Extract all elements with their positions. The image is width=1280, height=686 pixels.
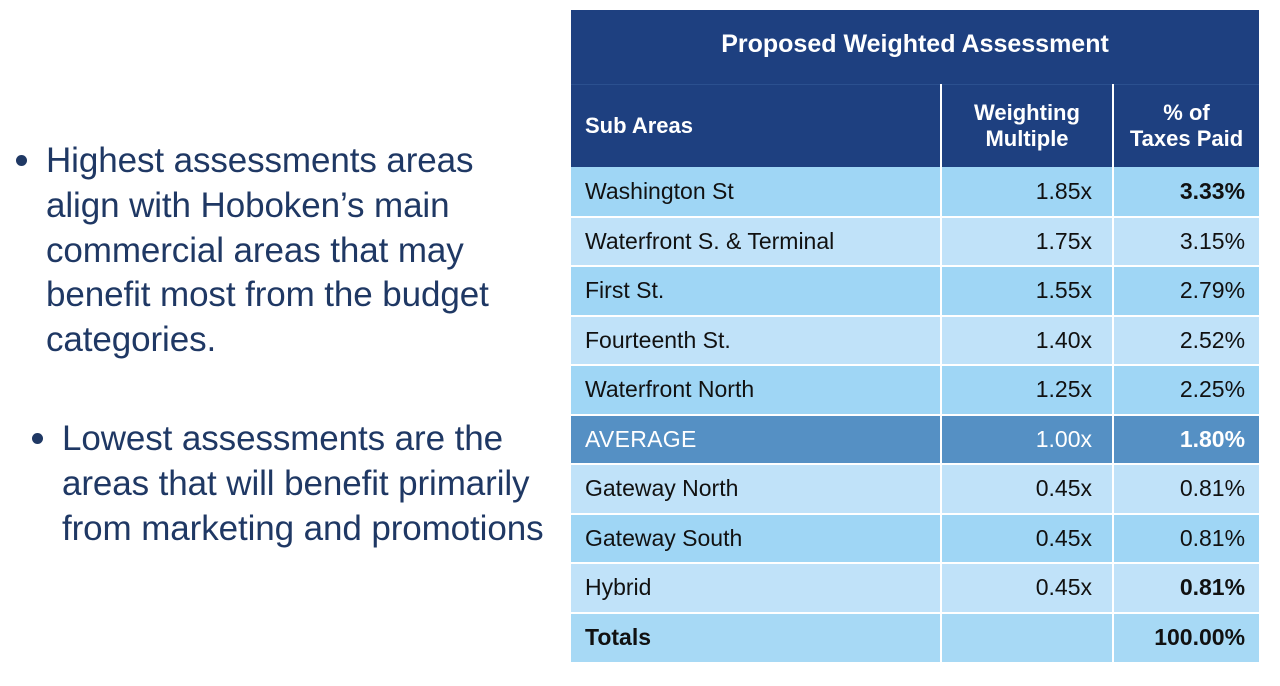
cell-percent-taxes-paid: 2.25% bbox=[1113, 365, 1259, 415]
column-header-sub-areas: Sub Areas bbox=[571, 85, 941, 168]
cell-percent-taxes-paid: 1.80% bbox=[1113, 415, 1259, 465]
cell-percent-taxes-paid: 100.00% bbox=[1113, 613, 1259, 663]
cell-percent-taxes-paid: 0.81% bbox=[1113, 563, 1259, 613]
bullet-list: Highest assessments areas align with Hob… bbox=[0, 0, 556, 686]
column-header-percent-line1: % of bbox=[1126, 100, 1247, 126]
column-header-percent-line2: Taxes Paid bbox=[1126, 126, 1247, 152]
cell-weighting-multiple: 0.45x bbox=[941, 464, 1113, 514]
cell-sub-area: Totals bbox=[571, 613, 941, 663]
cell-percent-taxes-paid: 3.33% bbox=[1113, 167, 1259, 217]
bullet-dot-icon bbox=[16, 155, 27, 166]
table-column-header-row: Sub Areas Weighting Multiple % of Taxes … bbox=[571, 85, 1259, 168]
column-header-weighting-multiple: Weighting Multiple bbox=[941, 85, 1113, 168]
cell-sub-area: Waterfront S. & Terminal bbox=[571, 217, 941, 267]
table-row: Gateway North0.45x0.81% bbox=[571, 464, 1259, 514]
bullet-dot-icon bbox=[32, 433, 43, 444]
cell-sub-area: Hybrid bbox=[571, 563, 941, 613]
table-row: Gateway South0.45x0.81% bbox=[571, 514, 1259, 564]
cell-percent-taxes-paid: 3.15% bbox=[1113, 217, 1259, 267]
table-row: Washington St1.85x3.33% bbox=[571, 167, 1259, 217]
slide: Highest assessments areas align with Hob… bbox=[0, 0, 1280, 686]
table-row: First St.1.55x2.79% bbox=[571, 266, 1259, 316]
cell-weighting-multiple: 0.45x bbox=[941, 563, 1113, 613]
table-title-row: Proposed Weighted Assessment bbox=[571, 10, 1259, 85]
cell-weighting-multiple bbox=[941, 613, 1113, 663]
cell-weighting-multiple: 1.25x bbox=[941, 365, 1113, 415]
table-title: Proposed Weighted Assessment bbox=[571, 10, 1259, 85]
cell-sub-area: First St. bbox=[571, 266, 941, 316]
cell-weighting-multiple: 1.55x bbox=[941, 266, 1113, 316]
assessment-table-container: Proposed Weighted Assessment Sub Areas W… bbox=[571, 10, 1259, 662]
cell-percent-taxes-paid: 2.52% bbox=[1113, 316, 1259, 366]
table-header: Proposed Weighted Assessment Sub Areas W… bbox=[571, 10, 1259, 167]
table-row: AVERAGE1.00x1.80% bbox=[571, 415, 1259, 465]
cell-weighting-multiple: 0.45x bbox=[941, 514, 1113, 564]
column-header-weighting-line1: Weighting bbox=[954, 100, 1100, 126]
cell-weighting-multiple: 1.40x bbox=[941, 316, 1113, 366]
proposed-weighted-assessment-table: Proposed Weighted Assessment Sub Areas W… bbox=[571, 10, 1259, 662]
cell-sub-area: Waterfront North bbox=[571, 365, 941, 415]
cell-percent-taxes-paid: 2.79% bbox=[1113, 266, 1259, 316]
column-header-weighting-line2: Multiple bbox=[954, 126, 1100, 152]
column-header-percent-taxes-paid: % of Taxes Paid bbox=[1113, 85, 1259, 168]
table-row: Totals100.00% bbox=[571, 613, 1259, 663]
cell-sub-area: Washington St bbox=[571, 167, 941, 217]
cell-sub-area: Gateway North bbox=[571, 464, 941, 514]
cell-sub-area: AVERAGE bbox=[571, 415, 941, 465]
table-row: Waterfront S. & Terminal1.75x3.15% bbox=[571, 217, 1259, 267]
cell-weighting-multiple: 1.00x bbox=[941, 415, 1113, 465]
cell-sub-area: Gateway South bbox=[571, 514, 941, 564]
bullet-text-2: Lowest assessments are the areas that wi… bbox=[62, 417, 546, 551]
table-row: Hybrid0.45x0.81% bbox=[571, 563, 1259, 613]
bullet-text-1: Highest assessments areas align with Hob… bbox=[46, 139, 546, 363]
table-row: Fourteenth St.1.40x2.52% bbox=[571, 316, 1259, 366]
cell-sub-area: Fourteenth St. bbox=[571, 316, 941, 366]
bullet-item-1: Highest assessments areas align with Hob… bbox=[16, 139, 546, 363]
bullet-item-2: Lowest assessments are the areas that wi… bbox=[32, 417, 546, 551]
cell-percent-taxes-paid: 0.81% bbox=[1113, 464, 1259, 514]
cell-weighting-multiple: 1.85x bbox=[941, 167, 1113, 217]
table-body: Washington St1.85x3.33%Waterfront S. & T… bbox=[571, 167, 1259, 662]
cell-weighting-multiple: 1.75x bbox=[941, 217, 1113, 267]
table-row: Waterfront North1.25x2.25% bbox=[571, 365, 1259, 415]
cell-percent-taxes-paid: 0.81% bbox=[1113, 514, 1259, 564]
